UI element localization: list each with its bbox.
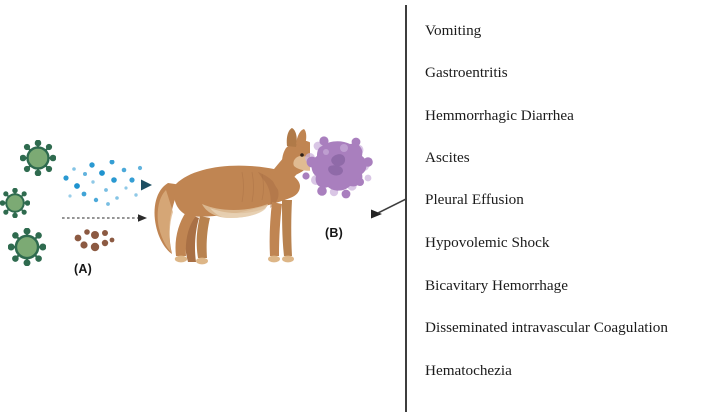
- brown-particle-dots-icon: [72, 228, 122, 256]
- symptom-item: Ascites: [425, 150, 470, 165]
- symptom-item: Hemmorrhagic Diarrhea: [425, 108, 574, 123]
- panel-b-label: (B): [325, 226, 343, 240]
- infection-transmission-arrow: [62, 160, 152, 210]
- virus-particle-icon: [8, 228, 46, 271]
- symptom-item: Hypovolemic Shock: [425, 235, 549, 250]
- chevron-left-icon: [377, 192, 409, 234]
- virus-particle-icon: [0, 188, 30, 223]
- outcome-arrow-icon: [298, 203, 382, 225]
- symptom-item: Pleural Effusion: [425, 192, 524, 207]
- symptom-item: Bicavitary Hemorrhage: [425, 278, 568, 293]
- infection-pathway-panel: (A): [0, 0, 406, 415]
- symptom-item: Disseminated intravascular Coagulation: [425, 320, 668, 335]
- symptom-item: Vomiting: [425, 23, 481, 38]
- virus-particle-icon: [20, 140, 56, 181]
- panel-a-label: (A): [74, 262, 92, 276]
- dog-illustration-icon: [150, 128, 310, 283]
- secondary-transmission-dashed-arrow: [62, 211, 148, 225]
- symptom-item: Gastroentritis: [425, 65, 508, 80]
- clinical-signs-list: VomitingGastroentritisHemmorrhagic Diarr…: [425, 0, 708, 415]
- blue-particle-dots-icon: [63, 160, 142, 206]
- infected-cell-cluster-icon: [298, 132, 378, 204]
- infection-outcome-figure: (A): [0, 0, 708, 415]
- symptom-item: Hematochezia: [425, 363, 512, 378]
